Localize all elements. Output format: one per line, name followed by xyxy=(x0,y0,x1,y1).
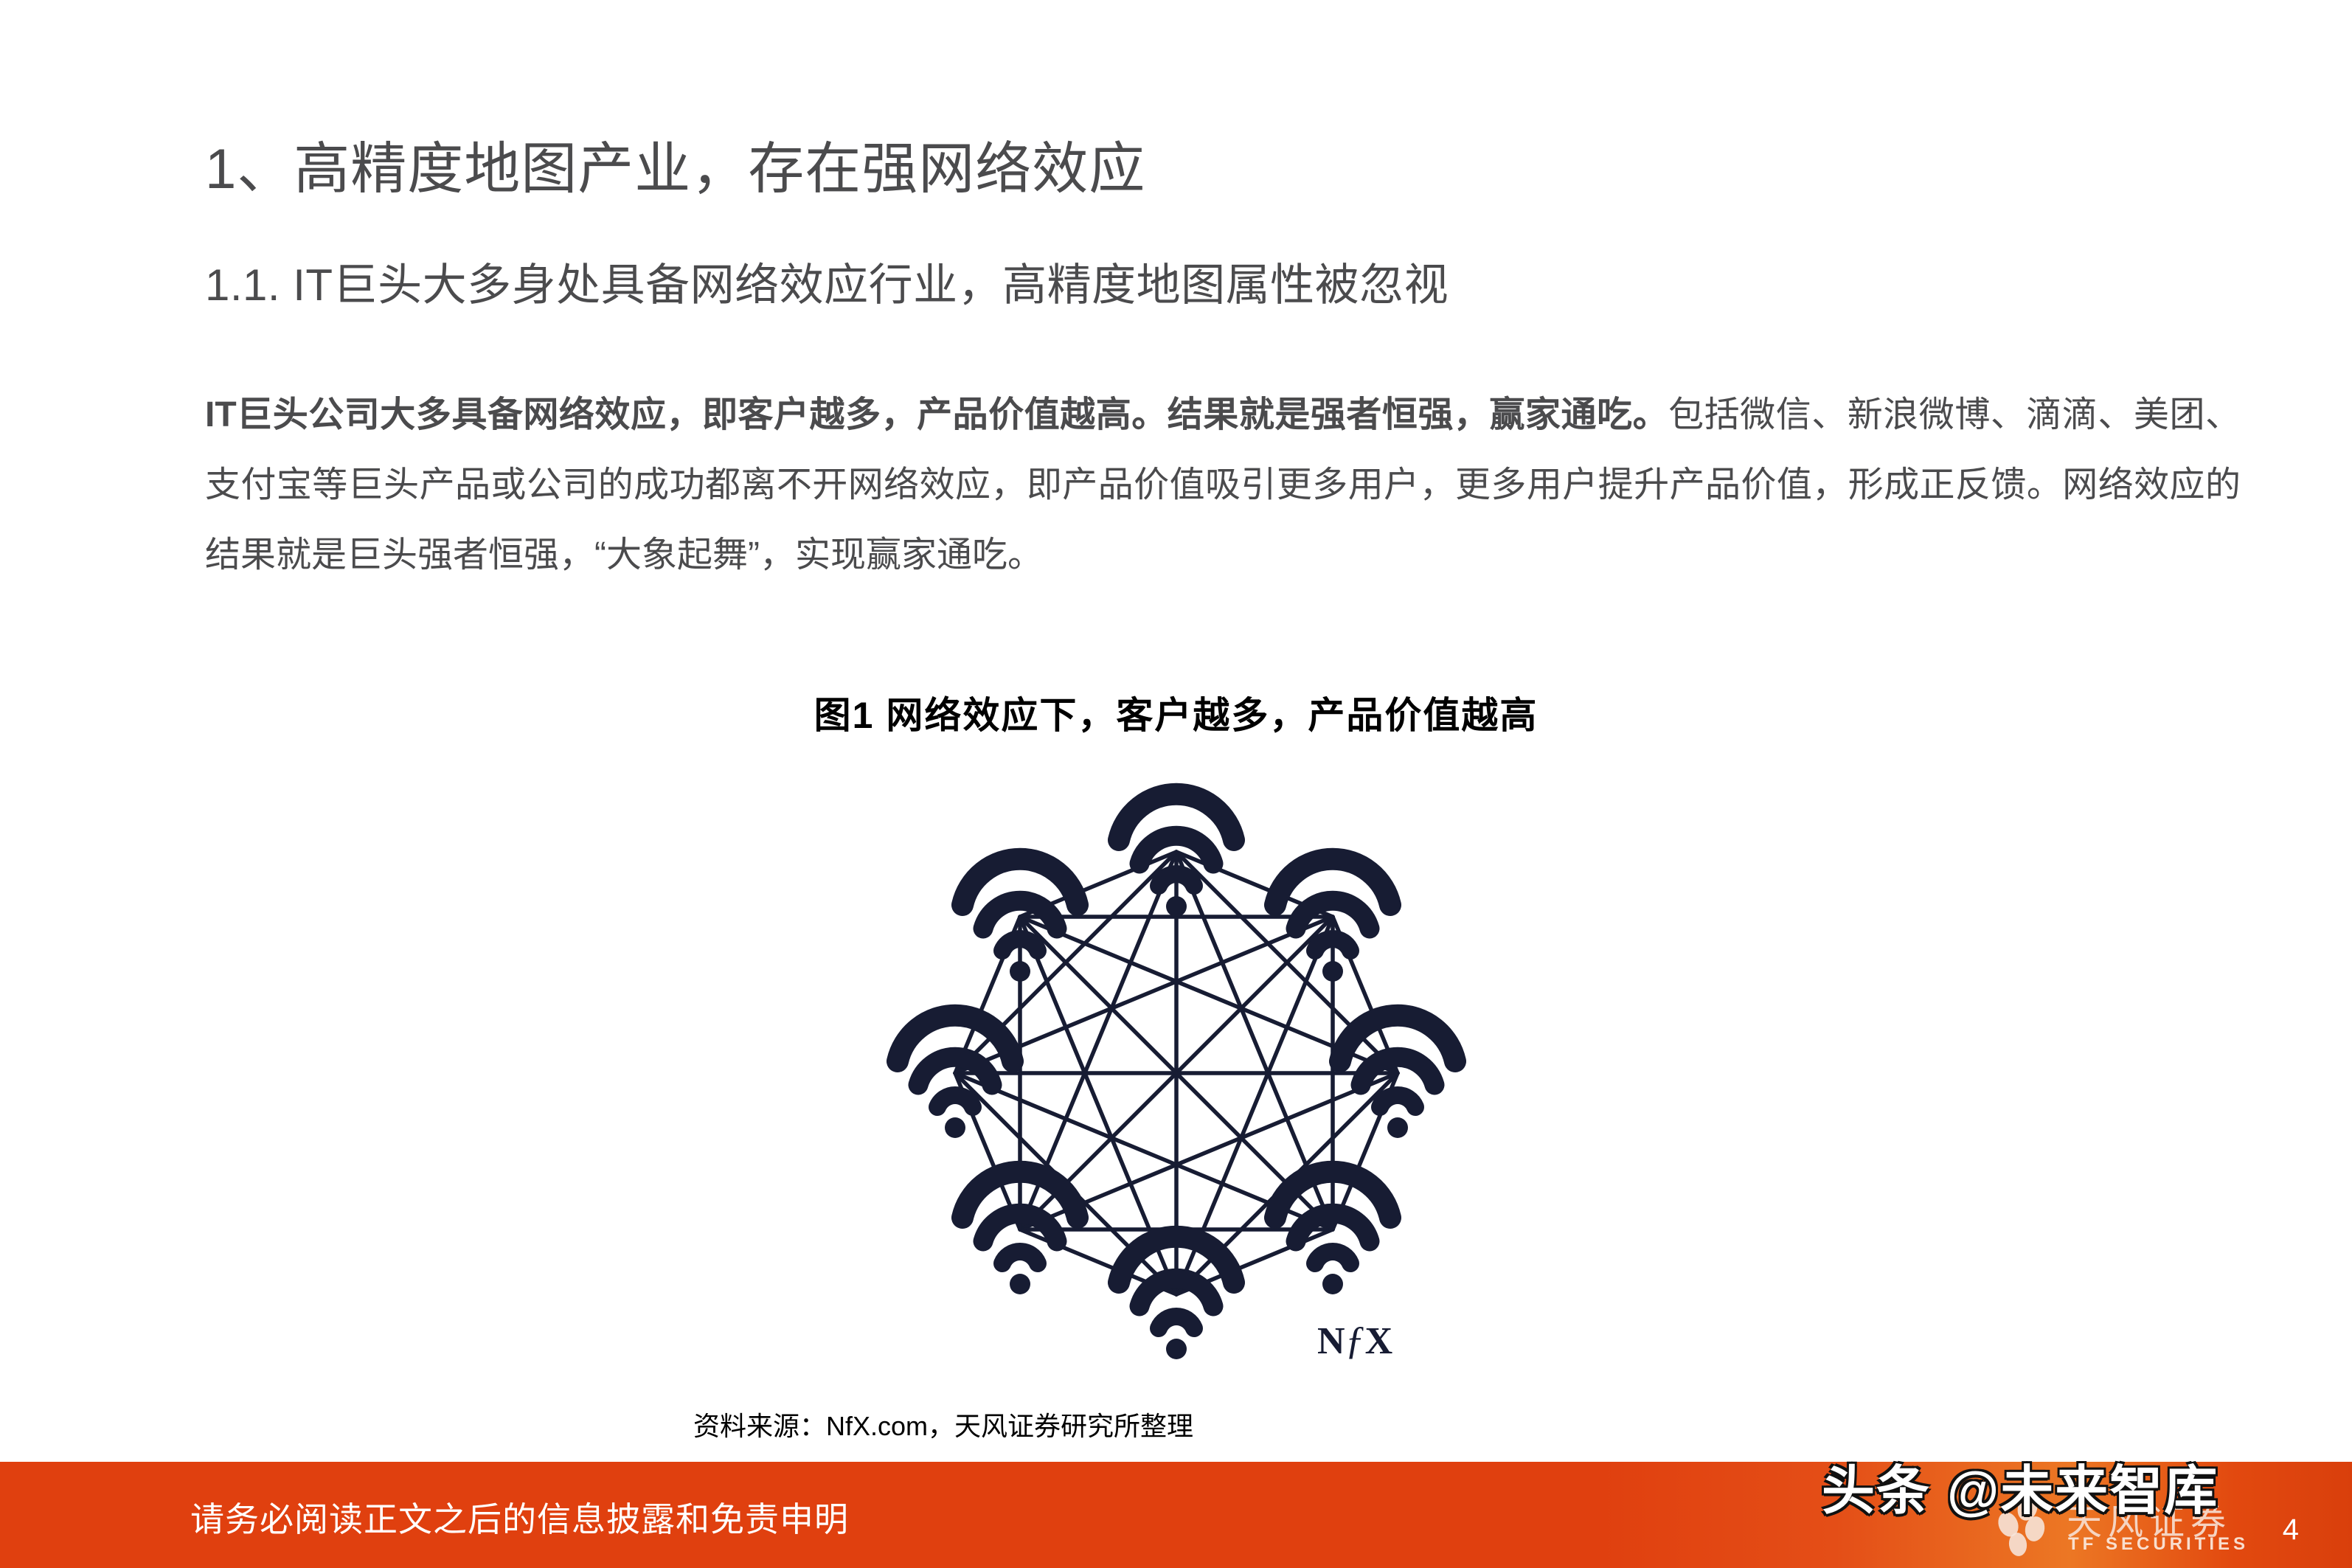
nfx-logo-f: ƒ xyxy=(1345,1318,1365,1362)
document-page: 1、高精度地图产业，存在强网络效应 1.1. IT巨头大多身处具备网络效应行业，… xyxy=(0,0,2352,1568)
body-paragraph: IT巨头公司大多具备网络效应，即客户越多，产品价值越高。结果就是强者恒强，赢家通… xyxy=(205,380,2241,590)
nfx-logo: NƒX xyxy=(1317,1317,1392,1363)
page-title: 1、高精度地图产业，存在强网络效应 xyxy=(205,137,1145,201)
body-paragraph-bold-lead: IT巨头公司大多具备网络效应，即客户越多，产品价值越高。结果就是强者恒强，赢家通… xyxy=(205,395,1668,434)
section-subtitle: 1.1. IT巨头大多身处具备网络效应行业，高精度地图属性被忽视 xyxy=(205,260,1449,311)
network-effect-diagram xyxy=(852,763,1501,1405)
figure-source-note: 资料来源：NfX.com，天风证券研究所整理 xyxy=(693,1405,1193,1443)
footer-disclaimer: 请务必阅读正文之后的信息披露和免责申明 xyxy=(190,1493,849,1541)
page-number: 4 xyxy=(2283,1513,2299,1547)
toutiao-watermark: 头条 @未来智库 xyxy=(1822,1447,2219,1524)
figure-caption: 图1 网络效应下，客户越多，产品价值越高 xyxy=(0,686,2352,739)
nfx-logo-n: N xyxy=(1317,1320,1345,1362)
brand-name-en: TF SECURITIES xyxy=(2068,1534,2249,1555)
nfx-logo-x: X xyxy=(1365,1320,1393,1362)
